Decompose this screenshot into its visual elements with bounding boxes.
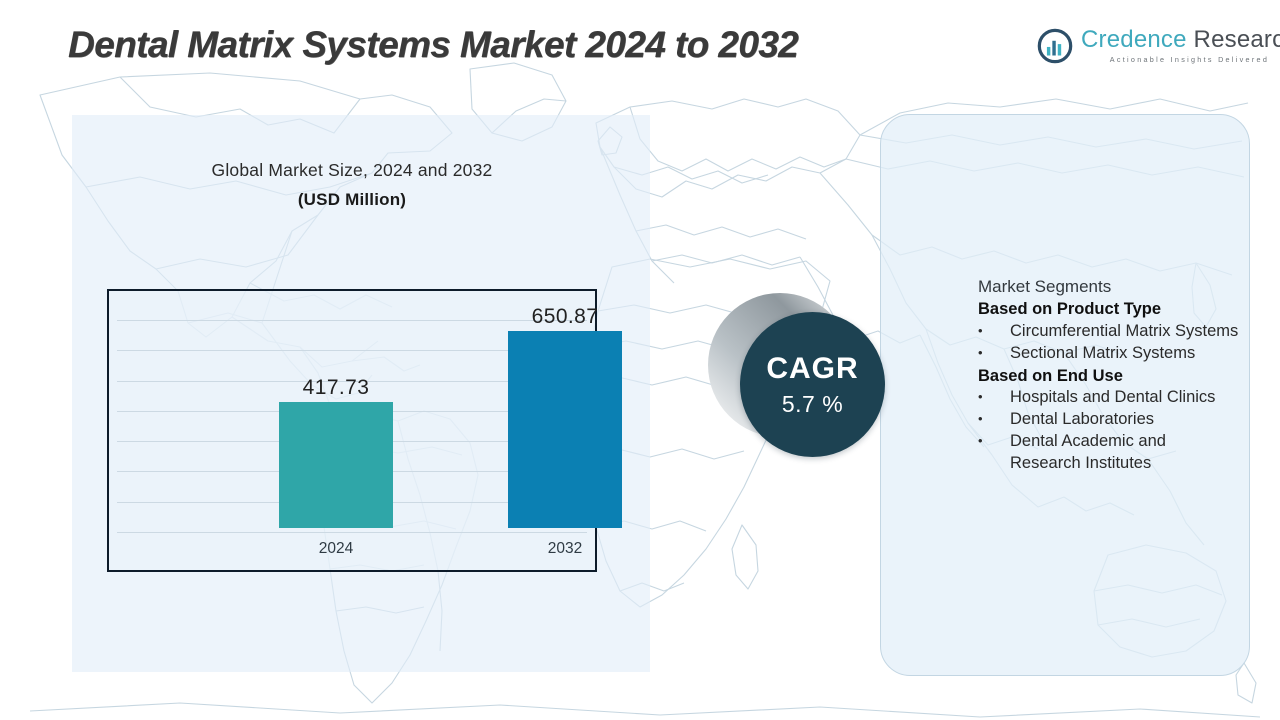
bar-chart-circle-logo-icon — [1036, 27, 1074, 65]
bullet-icon: • — [978, 387, 1010, 409]
segment-group-heading: Based on Product Type — [978, 298, 1240, 320]
bar-category-label: 2032 — [478, 540, 652, 558]
brand-logo[interactable]: Credence Research Actionable Insights De… — [1036, 27, 1280, 65]
logo-word-primary: Credence — [1081, 26, 1187, 53]
bar-2024 — [279, 402, 393, 528]
bar-value-label: 650.87 — [488, 305, 642, 329]
bullet-icon: • — [978, 343, 1010, 365]
market-segments: Market Segments Based on Product Type•Ci… — [978, 276, 1240, 475]
cagr-circle: CAGR 5.7 % — [740, 312, 885, 457]
segments-title: Market Segments — [978, 276, 1240, 298]
cagr-label: CAGR — [766, 354, 858, 384]
segment-list-item: •Dental Laboratories — [978, 409, 1240, 431]
bullet-icon: • — [978, 321, 1010, 343]
bar-2032 — [508, 331, 622, 528]
plot-area: 417.732024650.872032 — [109, 291, 595, 570]
segment-list-item: •Circumferential Matrix Systems — [978, 321, 1240, 343]
chart-units-subtitle: (USD Million) — [107, 190, 597, 210]
page-title: Dental Matrix Systems Market 2024 to 203… — [68, 24, 798, 66]
bullet-icon: • — [978, 431, 1010, 475]
cagr-badge: CAGR 5.7 % — [700, 285, 925, 510]
segment-item-label: Sectional Matrix Systems — [1010, 343, 1240, 365]
segment-list-item: •Hospitals and Dental Clinics — [978, 387, 1240, 409]
segment-item-label: Circumferential Matrix Systems — [1010, 321, 1240, 343]
chart-title: Global Market Size, 2024 and 2032 — [107, 160, 597, 181]
bullet-icon: • — [978, 409, 1010, 431]
chart-heading: Global Market Size, 2024 and 2032 (USD M… — [107, 160, 597, 210]
bar-chart: 417.732024650.872032 — [107, 289, 597, 572]
segment-list-item: •Dental Academic and Research Institutes — [978, 431, 1240, 475]
bar-category-label: 2024 — [249, 540, 423, 558]
segment-item-label: Hospitals and Dental Clinics — [1010, 387, 1240, 409]
bar-value-label: 417.73 — [259, 376, 413, 400]
logo-word-secondary: Research — [1187, 26, 1280, 53]
segment-list-item: •Sectional Matrix Systems — [978, 343, 1240, 365]
cagr-value: 5.7 % — [782, 393, 843, 416]
segment-item-label: Dental Laboratories — [1010, 409, 1240, 431]
infographic-root: Dental Matrix Systems Market 2024 to 203… — [0, 0, 1280, 720]
logo-wordmark: Credence Research — [1081, 28, 1280, 52]
segments-groups: Based on Product Type•Circumferential Ma… — [978, 298, 1240, 474]
logo-tagline: Actionable Insights Delivered — [1081, 56, 1280, 63]
segment-item-label: Dental Academic and Research Institutes — [1010, 431, 1240, 475]
segment-group-heading: Based on End Use — [978, 365, 1240, 387]
axis-baseline — [117, 532, 587, 533]
